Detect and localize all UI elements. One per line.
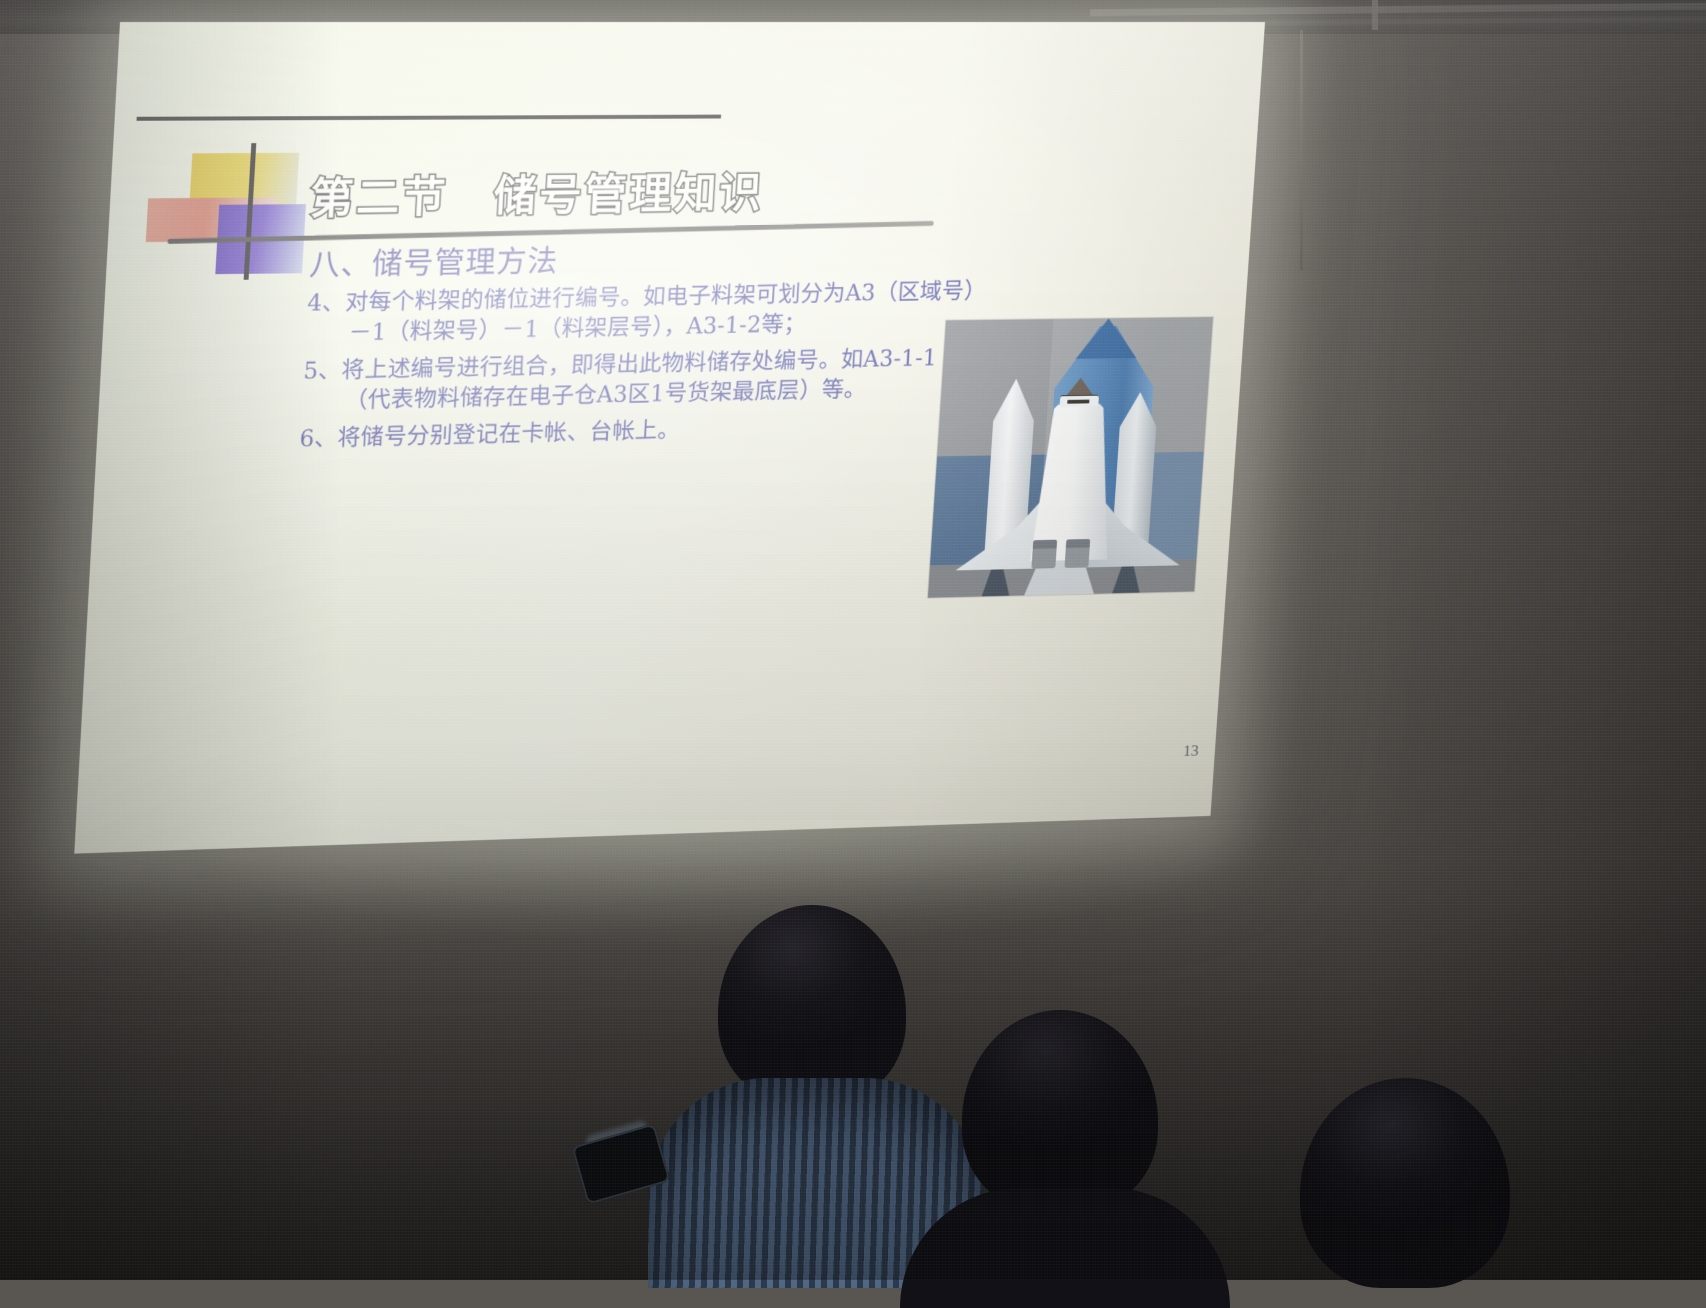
- bullet-item-6-line-1: 6、将储号分别登记在卡帐、台帐上。: [299, 408, 968, 454]
- shuttle-engine-icon: [1031, 540, 1057, 569]
- horizontal-bar-icon: [137, 115, 722, 121]
- projected-slide: 第二节 储号管理知识 八、储号管理方法 4、对每个料架的储位进行编号。如电子料架…: [74, 22, 1265, 854]
- slide-body: 八、储号管理方法 4、对每个料架的储位进行编号。如电子料架可划分为A3（区域号）…: [299, 232, 980, 454]
- engine-top-icon: [1066, 539, 1090, 548]
- slide-subheading: 八、储号管理方法: [308, 230, 979, 284]
- slide-title: 第二节 储号管理知识: [309, 157, 766, 226]
- space-shuttle-image: [928, 317, 1213, 598]
- laser-pointer-dot: [1258, 737, 1263, 742]
- slide-header-decoration: [144, 143, 329, 273]
- slide-page-number: 13: [1183, 741, 1200, 760]
- engine-top-icon: [1033, 540, 1057, 549]
- shuttle-engine-icon: [1064, 539, 1090, 568]
- shuttle-cockpit-window-icon: [1067, 400, 1089, 404]
